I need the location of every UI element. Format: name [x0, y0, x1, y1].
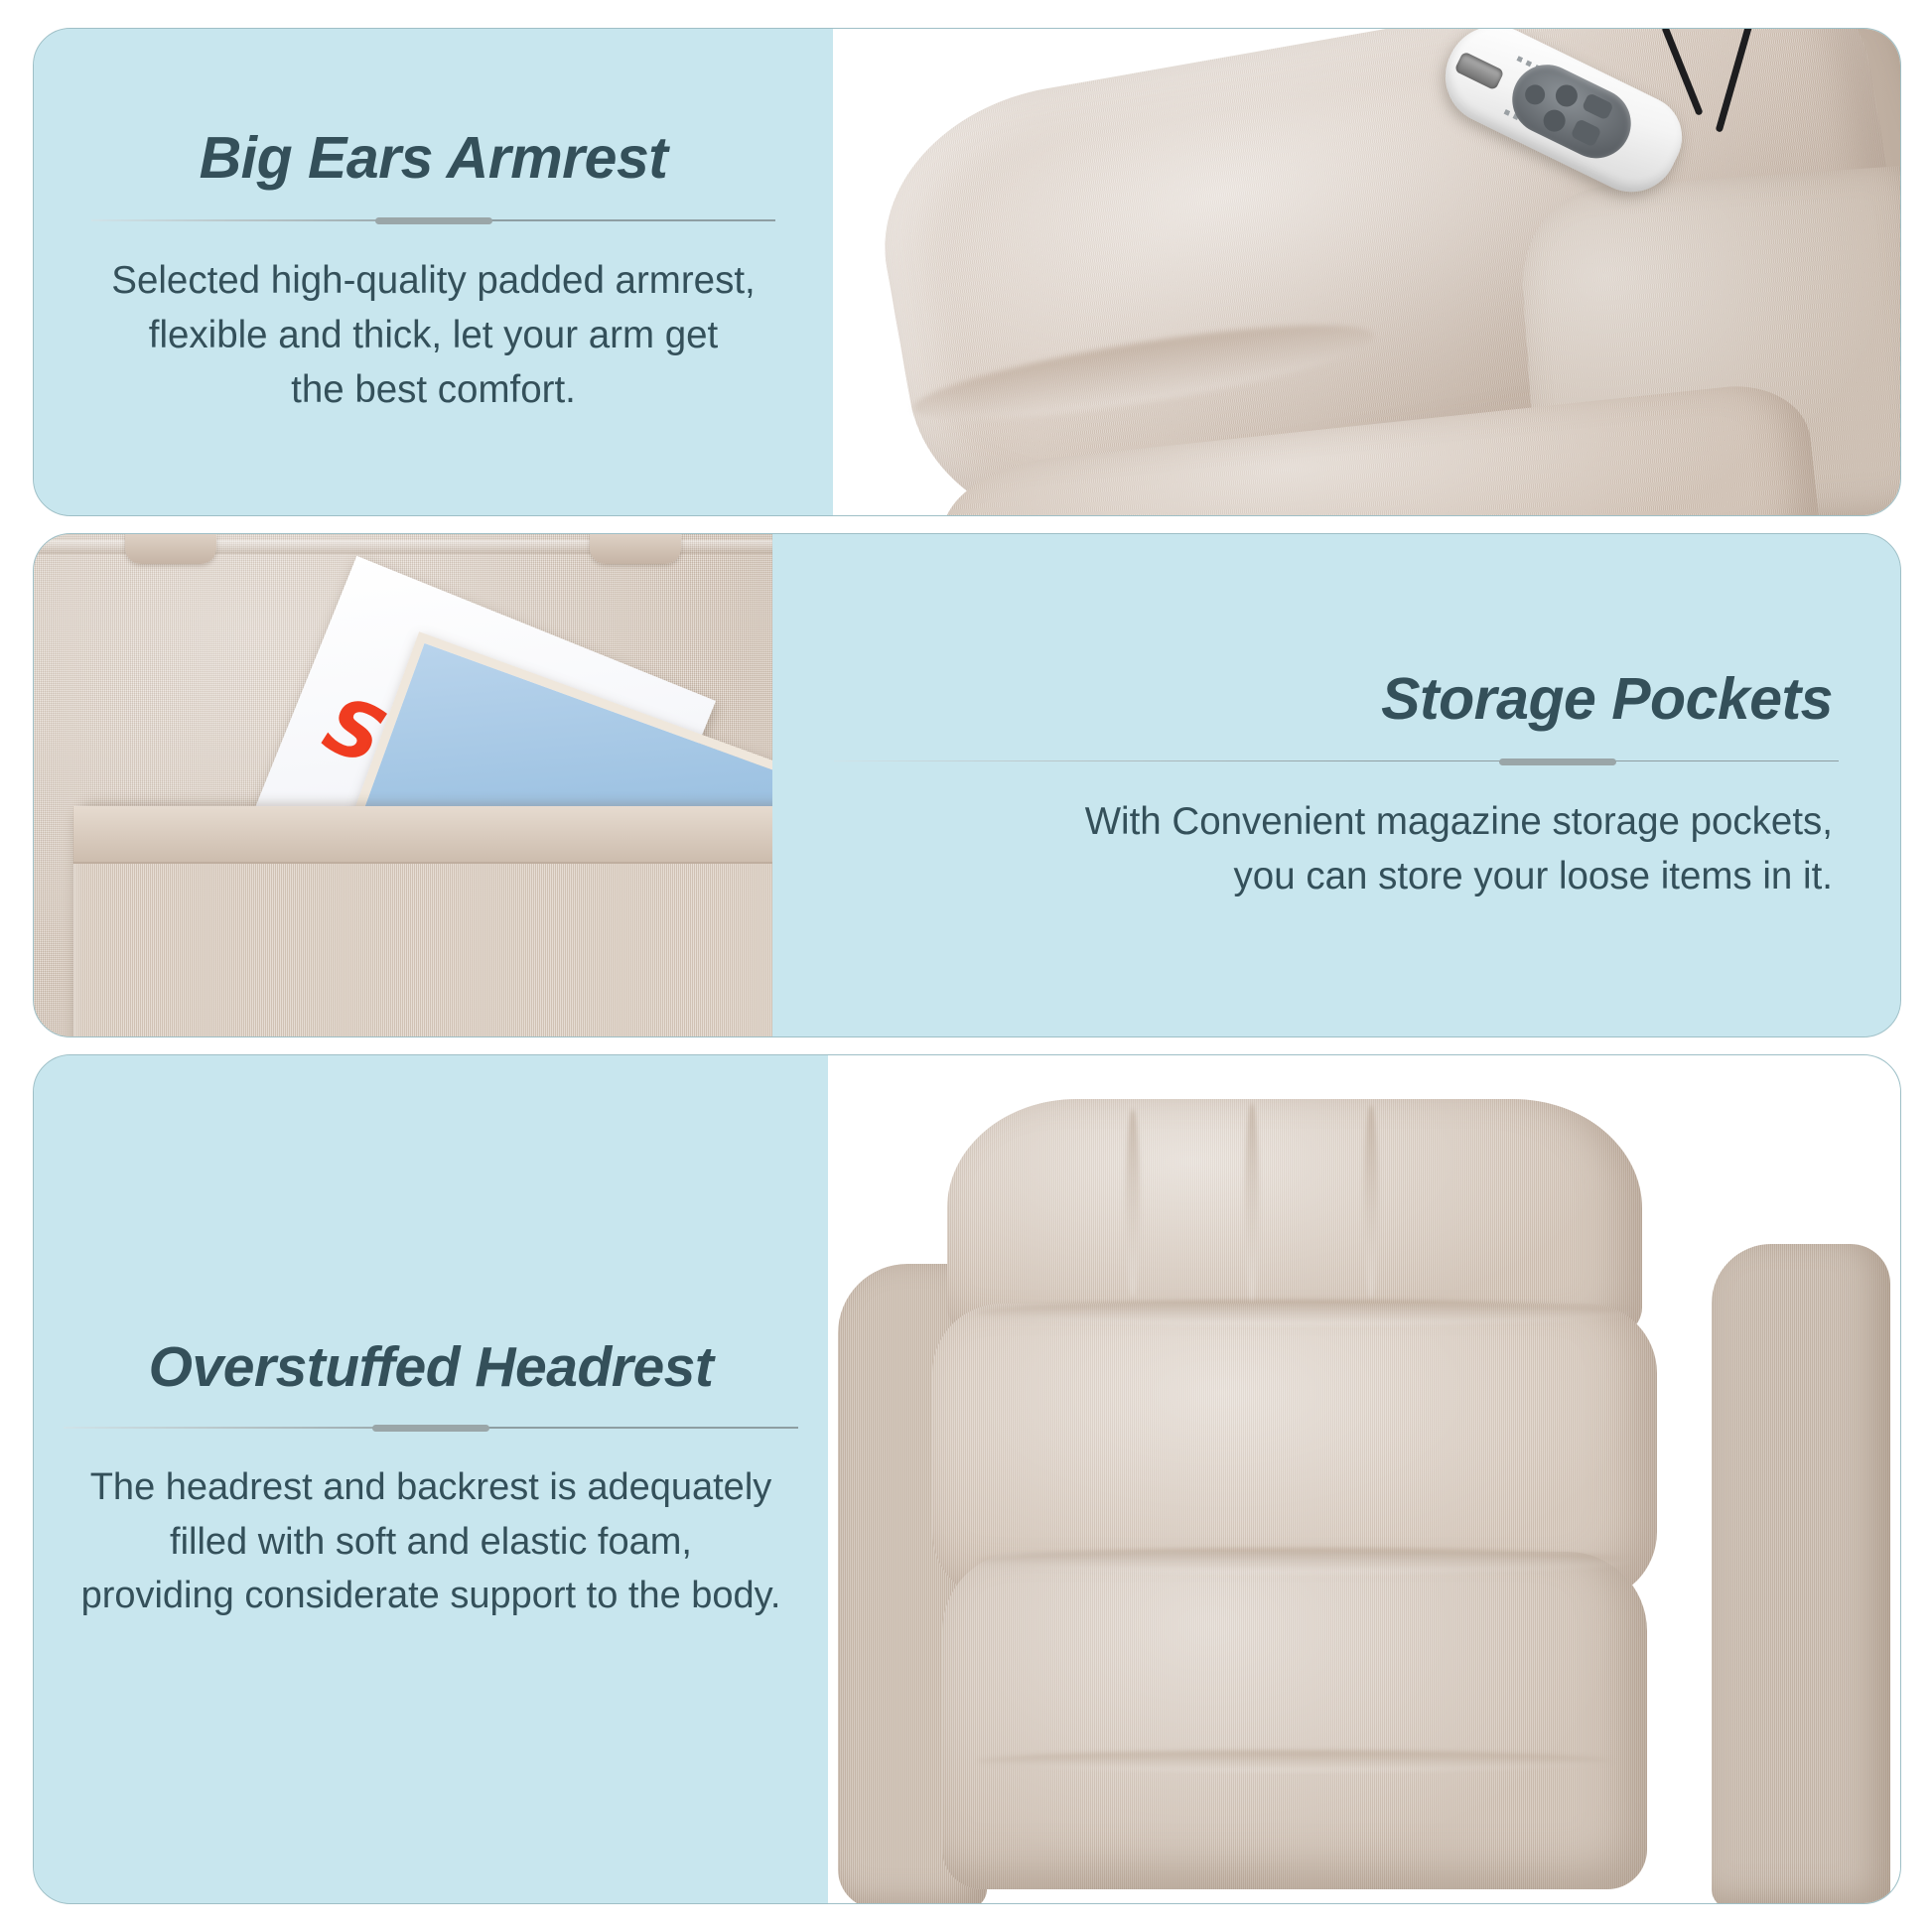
- cushion-crease: [977, 1548, 1632, 1574]
- feature-description: Selected high-quality padded armrest, fl…: [91, 253, 775, 417]
- feature-text-panel: Big Ears Armrest Selected high-quality p…: [34, 29, 833, 515]
- power-button[interactable]: [1522, 81, 1549, 108]
- feature-description-line: you can store your loose items in it.: [834, 849, 1833, 903]
- fabric-tab-right: [590, 534, 681, 564]
- headrest-pleat: [1364, 1105, 1378, 1299]
- divider-accent: [372, 1425, 489, 1432]
- divider-line: [834, 760, 1839, 762]
- feature-description-line: flexible and thick, let your arm get: [91, 308, 775, 362]
- divider-accent: [375, 217, 492, 224]
- title-divider: [834, 758, 1839, 764]
- feature-description-line: the best comfort.: [91, 362, 775, 417]
- cushion-crease: [977, 1750, 1612, 1772]
- feature-text-panel: Overstuffed Headrest The headrest and ba…: [34, 1055, 828, 1903]
- intensity-up-button[interactable]: [1570, 118, 1601, 147]
- remote-usb-port: [1454, 51, 1505, 90]
- armrest-right: [1712, 1244, 1890, 1903]
- backrest-lower-cushion: [942, 1552, 1647, 1889]
- feature-description-line: The headrest and backrest is adequately: [64, 1460, 798, 1514]
- feature-infographic: Big Ears Armrest Selected high-quality p…: [0, 0, 1932, 1932]
- feature-text-panel: Storage Pockets With Convenient magazine…: [772, 534, 1900, 1036]
- cushion-crease: [977, 1300, 1632, 1325]
- pocket-elastic-band: [73, 806, 772, 864]
- feature-title: Overstuffed Headrest: [64, 1336, 798, 1399]
- feature-card-storage-pockets: S ΛSENCHUAN 08 Storage Pockets With Conv…: [33, 533, 1901, 1037]
- title-divider: [64, 1424, 798, 1431]
- feature-title: Big Ears Armrest: [91, 126, 775, 191]
- feature-title: Storage Pockets: [834, 667, 1839, 732]
- feature-card-overstuffed-headrest: Overstuffed Headrest The headrest and ba…: [33, 1054, 1901, 1904]
- heat-button[interactable]: [1582, 92, 1614, 120]
- headrest-pleat: [1245, 1103, 1259, 1302]
- feature-description-line: With Convenient magazine storage pockets…: [834, 794, 1833, 849]
- fabric-tab-left: [125, 534, 216, 564]
- feature-photo-headrest: [828, 1055, 1900, 1903]
- feature-description: The headrest and backrest is adequately …: [64, 1460, 798, 1622]
- title-divider: [91, 216, 775, 223]
- storage-pocket: [73, 806, 772, 1036]
- feature-description: With Convenient magazine storage pockets…: [834, 794, 1839, 903]
- feature-description-line: filled with soft and elastic foam,: [64, 1515, 798, 1569]
- timer-button[interactable]: [1540, 106, 1569, 135]
- feature-card-big-ears-armrest: Big Ears Armrest Selected high-quality p…: [33, 28, 1901, 516]
- feature-photo-armrest: [833, 29, 1900, 515]
- feature-description-line: Selected high-quality padded armrest,: [91, 253, 775, 308]
- mode-button[interactable]: [1552, 81, 1581, 110]
- headrest-pleat: [1126, 1109, 1140, 1298]
- feature-photo-storage-pocket: S ΛSENCHUAN 08: [34, 534, 772, 1036]
- divider-accent: [1499, 759, 1616, 765]
- feature-description-line: providing considerate support to the bod…: [64, 1569, 798, 1622]
